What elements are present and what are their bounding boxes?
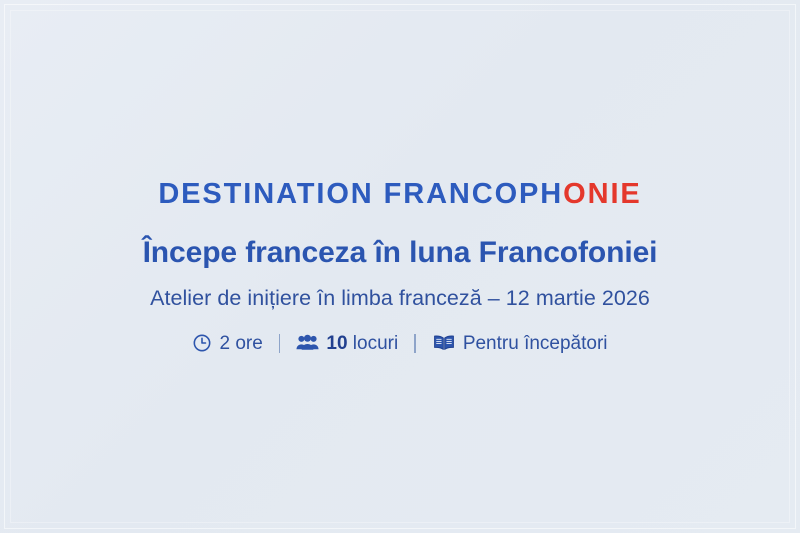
people-group-icon	[296, 333, 319, 353]
meta-label-duration: 2 ore	[219, 334, 262, 353]
brand-title-red-part: ONIE	[563, 178, 642, 210]
meta-separator	[279, 334, 281, 353]
open-book-icon	[432, 334, 456, 353]
headline: Începe franceza în luna Francofoniei	[143, 236, 658, 270]
meta-row: 2 ore 10 locuri	[192, 333, 607, 353]
meta-label-seats: 10 locuri	[326, 334, 398, 353]
meta-label-level: Pentru începători	[463, 334, 608, 353]
meta-item-level: Pentru începători	[432, 334, 608, 353]
brand-title: DESTINATION FRANCOPHONIE	[158, 180, 641, 209]
meta-separator	[414, 334, 416, 353]
poster-content: DESTINATION FRANCOPHONIE Începe franceza…	[0, 0, 800, 533]
brand-title-blue-part: DESTINATION FRANCOPH	[158, 178, 563, 210]
clock-icon	[192, 333, 212, 353]
meta-item-seats: 10 locuri	[296, 333, 398, 353]
meta-item-duration: 2 ore	[192, 333, 262, 353]
meta-value-seats: 10	[326, 333, 347, 354]
poster-canvas: DESTINATION FRANCOPHONIE Începe franceza…	[0, 0, 800, 533]
meta-unit-seats: locuri	[348, 333, 399, 354]
subtitle: Atelier de inițiere în limba franceză – …	[150, 286, 650, 312]
